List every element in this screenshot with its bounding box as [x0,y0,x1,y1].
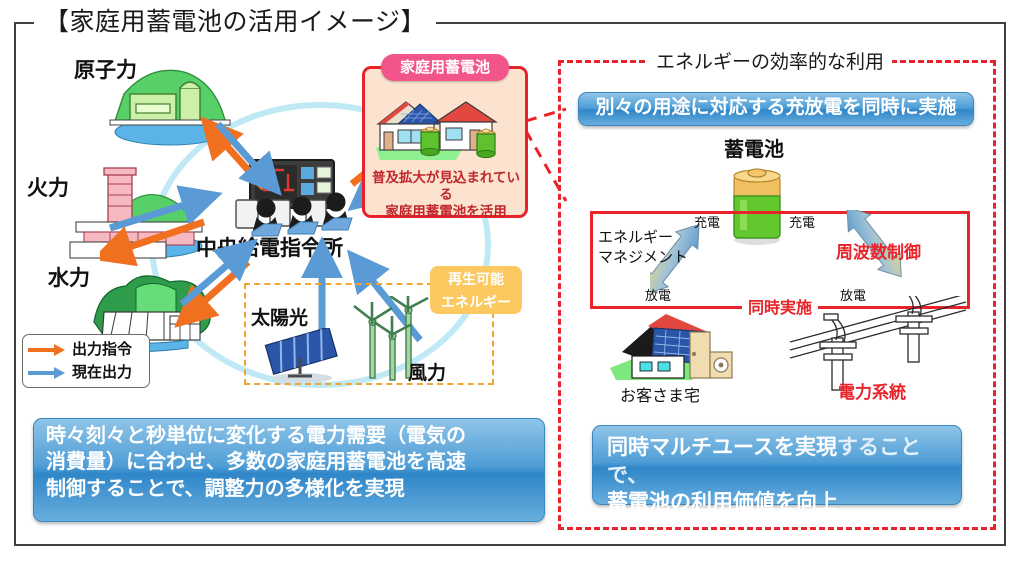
legend-item-current: 現在出力 [28,361,144,384]
energy-management-line1: エネルギー [598,228,688,248]
right-summary-line1: 同時マルチユースを実現することで、 [607,434,947,489]
energy-management-line2: マネジメント [598,248,688,268]
household-battery-note: 普及拡大が見込まれている 家庭用蓄電池を活用 [366,170,526,221]
left-summary-box: 時々刻々と秒単位に変化する電力需要（電気の 消費量）に合わせ、多数の家庭用蓄電池… [33,418,545,522]
household-note-line1: 普及拡大が見込まれている [366,170,526,204]
right-summary-line2: 蓄電池の利用価値を向上 [607,489,947,517]
right-summary-strong: 同時マルチユースを実現 [607,436,837,459]
right-banner-text: 別々の用途に対応する充放電を同時に実施 [579,93,973,122]
left-summary-line3: 制御することで、調整力の多様化を実現 [46,476,532,502]
page-title: 【家庭用蓄電池の活用イメージ】 [34,4,436,40]
right-summary-box: 同時マルチユースを実現することで、 蓄電池の利用価値を向上 [592,425,962,505]
plant-label-nuclear: 原子力 [74,54,137,84]
charge-label-left: 充電 [694,212,720,231]
wind-label: 風力 [408,358,446,385]
household-houses-icon [370,88,520,166]
thermal-plant-icon [58,162,218,262]
customer-home-icon [604,306,740,388]
discharge-label-left: 放電 [645,285,671,304]
simultaneous-label: 同時実施 [742,294,818,318]
left-summary-line2: 消費量）に合わせ、多数の家庭用蓄電池を高速 [46,449,532,475]
left-summary-line1: 時々刻々と秒単位に変化する電力需要（電気の [46,423,532,449]
renewable-energy-tag: 再生可能 エネルギー [430,266,522,314]
legend-label-command: 出力指令 [72,342,132,357]
plant-label-thermal: 火力 [27,172,69,202]
renewable-tag-line1: 再生可能 [430,268,522,291]
plant-label-hydro: 水力 [48,262,90,292]
customer-home-label: お客さま宅 [620,382,700,406]
legend-box: 出力指令 現在出力 [22,334,150,388]
household-note-line2: 家庭用蓄電池を活用 [366,204,526,221]
legend-label-current: 現在出力 [72,365,132,380]
solar-label: 太陽光 [251,303,308,330]
battery-label: 蓄電池 [724,133,784,162]
command-arrow-icon [28,344,68,356]
legend-item-command: 出力指令 [28,338,144,361]
frequency-control-label: 周波数制御 [836,238,921,263]
current-arrow-icon [28,367,68,379]
charge-label-right: 充電 [789,212,815,231]
right-banner: 別々の用途に対応する充放電を同時に実施 [578,92,974,126]
renewable-tag-line2: エネルギー [430,291,522,314]
solar-panel-icon [258,328,348,384]
energy-management-label: エネルギー マネジメント [598,228,688,267]
efficient-use-title: エネルギーの効率的な利用 [648,47,892,74]
infographic-canvas: 【家庭用蓄電池の活用イメージ】 原子力 火力 [0,0,1024,568]
household-battery-badge: 家庭用蓄電池 [381,54,509,81]
dispatch-center-label: 中央給電指令所 [196,232,343,262]
power-grid-label: 電力系統 [838,378,906,403]
